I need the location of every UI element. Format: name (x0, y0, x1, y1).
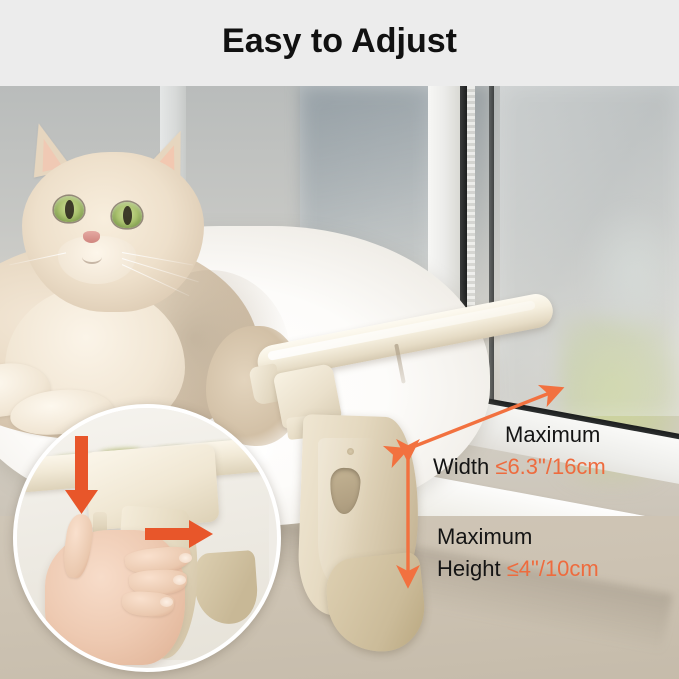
window-seal-strip-outer (489, 86, 494, 408)
max-width-label-line2: Width ≤6.3"/16cm (433, 455, 606, 478)
max-height-label-text: Height (437, 556, 501, 581)
max-width-label-line1: Maximum (505, 423, 600, 446)
max-width-label-text: Width (433, 454, 489, 479)
cat-nose (83, 231, 100, 243)
cat-pupil-left (65, 200, 74, 219)
max-height-label-line1: Maximum (437, 525, 532, 548)
max-height-label-line2: Height ≤4"/10cm (437, 557, 599, 580)
window-glass-pane-right (500, 86, 679, 416)
slide-right-arrow (145, 520, 213, 548)
product-photo: Maximum Width ≤6.3"/16cm Maximum Height … (0, 86, 679, 679)
cat-head (22, 152, 204, 312)
header-band: Easy to Adjust (0, 0, 679, 86)
adjustment-detail-closeup (13, 404, 281, 672)
max-height-value: ≤4"/10cm (507, 556, 599, 581)
cat-mouth (82, 250, 102, 264)
press-down-arrow (65, 436, 98, 514)
page-title: Easy to Adjust (0, 22, 679, 61)
cat-pupil-right (123, 206, 132, 225)
max-width-value: ≤6.3"/16cm (495, 454, 605, 479)
inset-arrow-overlay (17, 408, 269, 660)
product-feature-image: Easy to Adjust (0, 0, 679, 679)
bracket-screw (347, 448, 354, 455)
